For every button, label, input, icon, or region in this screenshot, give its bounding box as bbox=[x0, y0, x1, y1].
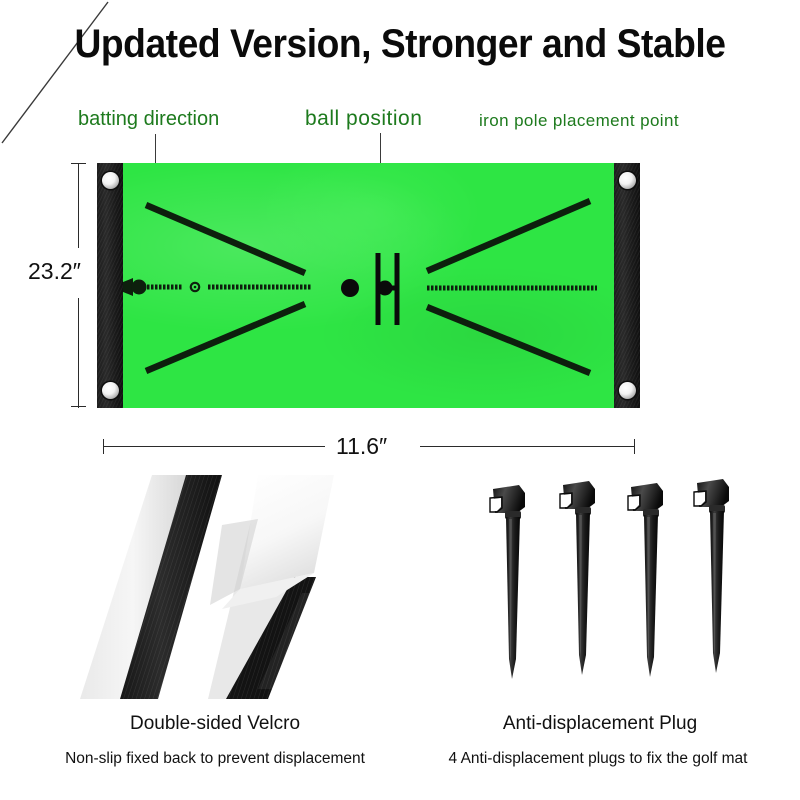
mat-edge-right bbox=[614, 163, 640, 408]
callout-label-iron-pole-placement-point: iron pole placement point bbox=[479, 111, 679, 131]
plug-3 bbox=[628, 483, 663, 677]
stripe-left-lower bbox=[146, 304, 305, 371]
iron-pole-placement-dot bbox=[378, 281, 393, 296]
stripe-left-upper bbox=[146, 205, 305, 273]
grommet-top-left bbox=[102, 172, 119, 189]
dimension-label-height: 23.2″ bbox=[28, 258, 81, 285]
dimension-line-vertical-bottom bbox=[78, 298, 79, 408]
mat-edge-left bbox=[97, 163, 123, 408]
arrow-base-dot bbox=[132, 280, 147, 295]
dimension-line-horizontal-left bbox=[103, 446, 325, 447]
stripe-right-upper bbox=[427, 201, 590, 271]
callout-label-batting-direction: batting direction bbox=[78, 108, 219, 131]
stripe-right-lower bbox=[427, 307, 590, 373]
photo-anti-displacement-plugs bbox=[455, 473, 785, 701]
callout-label-ball-position: ball position bbox=[305, 107, 422, 131]
infographic-root: Updated Version, Stronger and Stable bat… bbox=[0, 0, 800, 800]
plug-1 bbox=[490, 485, 525, 679]
grommet-bottom-left bbox=[102, 382, 119, 399]
target-marker-center bbox=[194, 286, 197, 289]
dimension-cap-vertical-top bbox=[71, 163, 86, 164]
dimension-line-horizontal-right bbox=[420, 446, 635, 447]
plug-4 bbox=[694, 479, 729, 673]
caption-title-velcro: Double-sided Velcro bbox=[0, 713, 430, 735]
plug-2 bbox=[560, 481, 595, 675]
caption-title-plug: Anti-displacement Plug bbox=[400, 713, 800, 735]
page-title: Updated Version, Stronger and Stable bbox=[28, 22, 772, 67]
caption-description-plug: 4 Anti-displacement plugs to fix the gol… bbox=[398, 750, 798, 768]
dimension-label-width: 11.6″ bbox=[336, 433, 387, 460]
dimension-line-vertical-top bbox=[78, 163, 79, 248]
grommet-bottom-right bbox=[619, 382, 636, 399]
dimension-cap-horizontal-left bbox=[103, 439, 104, 454]
dimension-cap-horizontal-right bbox=[634, 439, 635, 454]
photo-double-sided-velcro bbox=[62, 473, 392, 701]
mat-markings bbox=[97, 163, 640, 408]
golf-mat bbox=[97, 163, 640, 408]
dimension-cap-vertical-bottom bbox=[71, 406, 86, 407]
grommet-top-right bbox=[619, 172, 636, 189]
caption-description-velcro: Non-slip fixed back to prevent displacem… bbox=[0, 750, 430, 768]
ball-position-dot bbox=[341, 279, 359, 297]
